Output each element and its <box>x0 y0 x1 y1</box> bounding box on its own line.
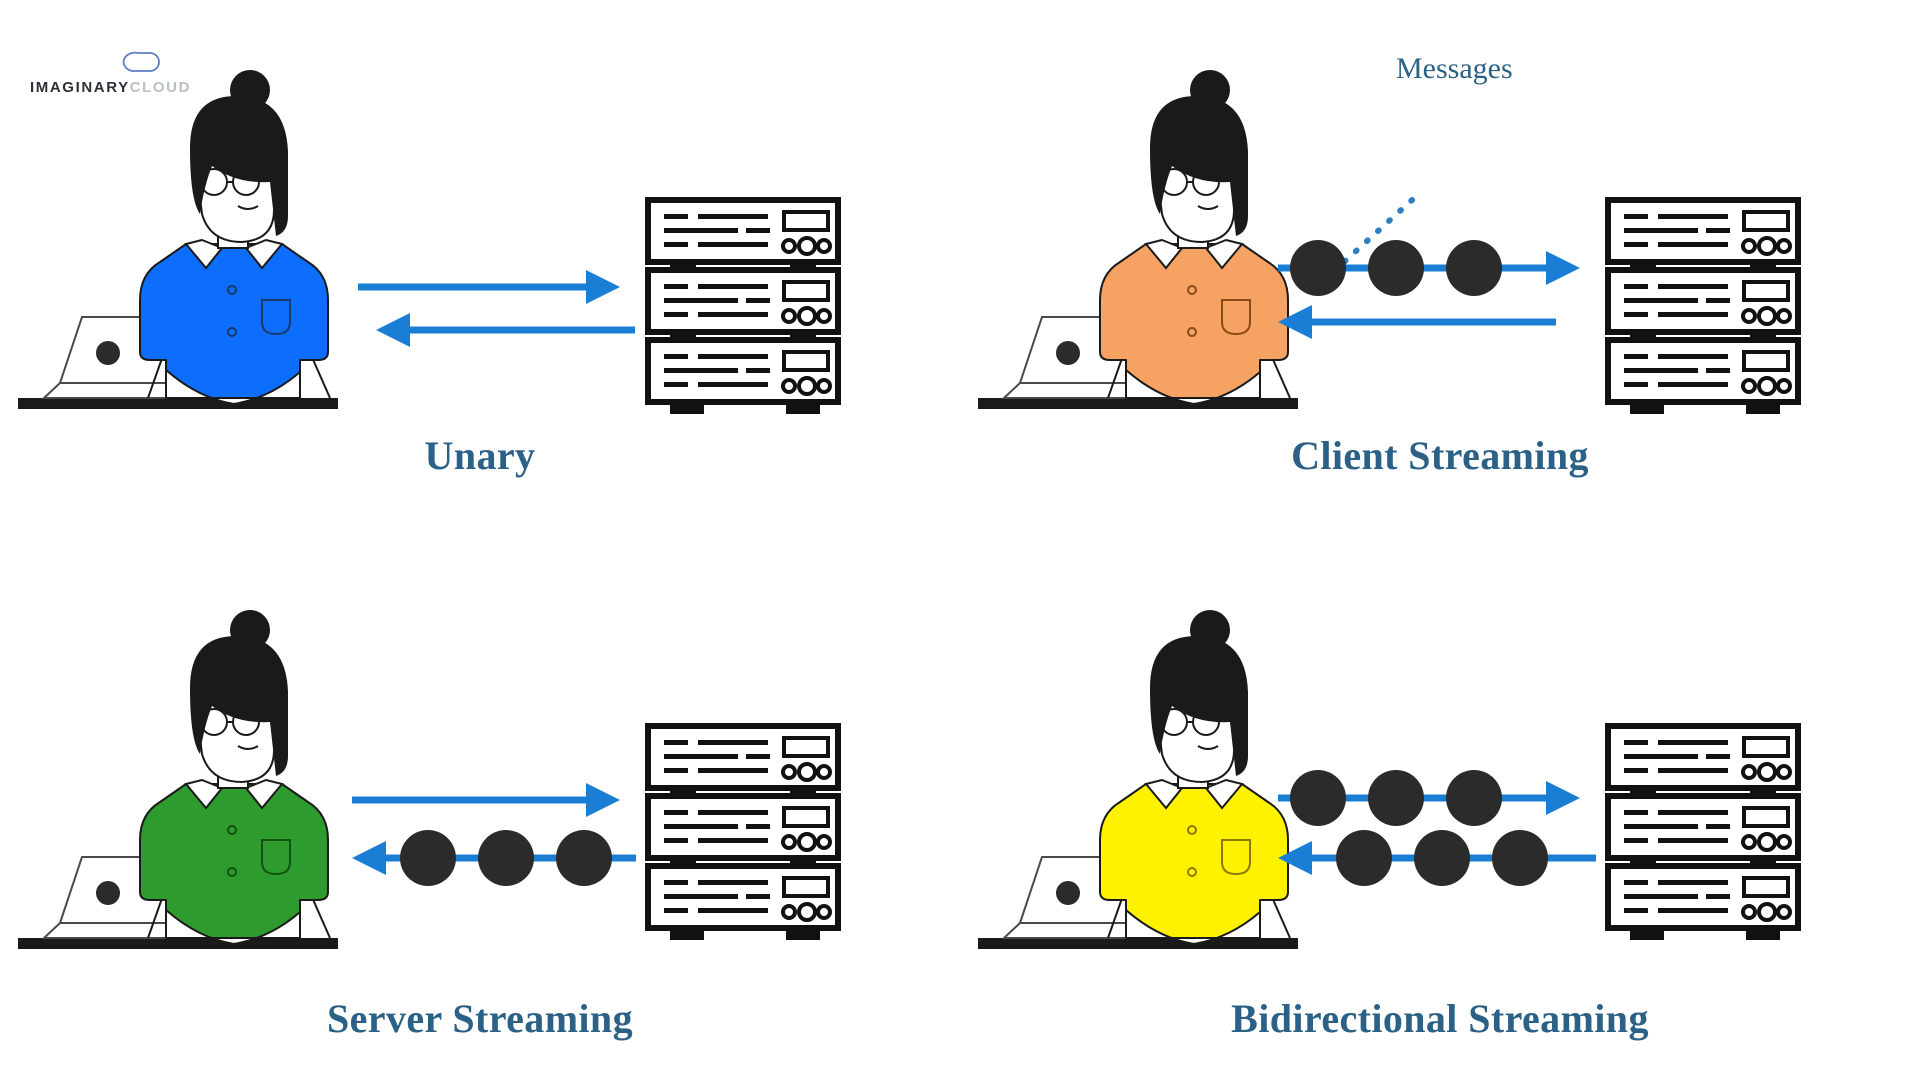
client-person-at-laptop <box>978 610 1298 949</box>
client-person-at-laptop <box>978 70 1298 409</box>
panel-title-client-streaming: Client Streaming <box>960 432 1920 479</box>
desk-surface <box>978 938 1298 949</box>
server-unit <box>648 200 838 262</box>
message-dot <box>478 830 534 886</box>
message-dot <box>1368 770 1424 826</box>
server-unit <box>1608 866 1798 928</box>
client-person-at-laptop <box>18 610 338 949</box>
message-dot <box>1290 240 1346 296</box>
panel-title-unary: Unary <box>0 432 960 479</box>
message-dot <box>1368 240 1424 296</box>
desk-surface <box>18 398 338 409</box>
desk-surface <box>18 938 338 949</box>
server-rack <box>1608 200 1798 414</box>
message-dot <box>1446 240 1502 296</box>
server-unit <box>1608 340 1798 402</box>
server-rack <box>1608 726 1798 940</box>
message-dot <box>1446 770 1502 826</box>
server-unit <box>1608 200 1798 262</box>
client-to-server-arrow <box>352 783 620 817</box>
server-unit <box>1608 796 1798 858</box>
server-unit <box>1608 726 1798 788</box>
client-person-at-laptop <box>18 70 338 409</box>
panel-unary: Unary <box>0 0 960 540</box>
hair-bun <box>1190 70 1230 110</box>
server-unit <box>648 796 838 858</box>
message-dot <box>1336 830 1392 886</box>
message-dot <box>1492 830 1548 886</box>
message-dot <box>1290 770 1346 826</box>
message-dot <box>556 830 612 886</box>
client-to-server-arrow <box>1278 240 1580 296</box>
laptop-logo-dot <box>96 341 120 365</box>
panel-title-server-streaming: Server Streaming <box>0 995 960 1042</box>
server-to-client-arrow <box>1278 305 1556 339</box>
messages-annotation-label: Messages <box>1396 52 1513 86</box>
diagram-canvas: IMAGINARYCLOUD <box>0 0 1920 1080</box>
server-unit <box>648 270 838 332</box>
client-to-server-arrow <box>1278 770 1580 826</box>
server-rack <box>648 200 838 414</box>
desk-surface <box>978 398 1298 409</box>
client-to-server-arrow <box>358 270 620 304</box>
server-unit <box>648 866 838 928</box>
server-to-client-arrow <box>376 313 635 347</box>
server-unit <box>648 726 838 788</box>
server-to-client-arrow <box>1278 830 1596 886</box>
laptop-logo-dot <box>1056 341 1080 365</box>
message-dot <box>400 830 456 886</box>
server-rack <box>648 726 838 940</box>
server-unit <box>1608 270 1798 332</box>
server-unit <box>648 340 838 402</box>
laptop-logo-dot <box>1056 881 1080 905</box>
hair-bun <box>230 610 270 650</box>
laptop-logo-dot <box>96 881 120 905</box>
panel-title-bidirectional-streaming: Bidirectional Streaming <box>960 995 1920 1042</box>
panel-server-streaming: Server Streaming <box>0 540 960 1080</box>
message-dot <box>1414 830 1470 886</box>
panel-bidirectional-streaming: Bidirectional Streaming <box>960 540 1920 1080</box>
server-to-client-arrow <box>352 830 636 886</box>
hair-bun <box>230 70 270 110</box>
hair-bun <box>1190 610 1230 650</box>
